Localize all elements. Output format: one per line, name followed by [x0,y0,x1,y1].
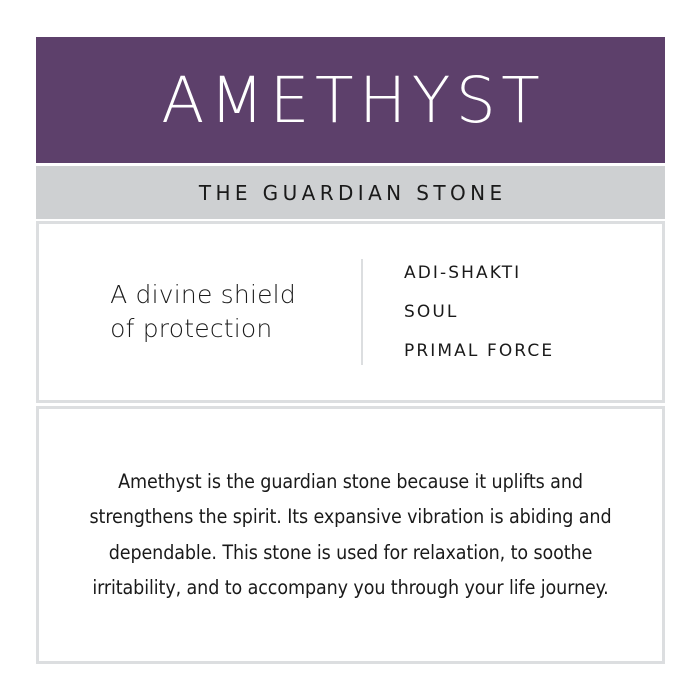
list-item: SOUL [404,293,662,332]
list-item: PRIMAL FORCE [404,332,662,371]
gemstone-info-card: AMETHYST THE GUARDIAN STONE A divine shi… [36,37,665,664]
title-band: AMETHYST [36,37,665,163]
subtitle-band: THE GUARDIAN STONE [36,166,665,219]
tagline-line-1: A divine shield [110,278,296,312]
tagline-line-2: of protection [110,312,296,346]
description-panel: Amethyst is the guardian stone because i… [36,406,665,664]
page-title: AMETHYST [156,69,546,132]
list-item: ADI-SHAKTI [404,254,662,293]
tagline-cell: A divine shield of protection [39,224,361,400]
page-subtitle: THE GUARDIAN STONE [194,181,506,205]
keywords-list: ADI-SHAKTI SOUL PRIMAL FORCE [363,224,662,400]
tagline: A divine shield of protection [110,278,296,346]
attributes-panel: A divine shield of protection ADI-SHAKTI… [36,221,665,403]
description-text: Amethyst is the guardian stone because i… [81,464,621,606]
